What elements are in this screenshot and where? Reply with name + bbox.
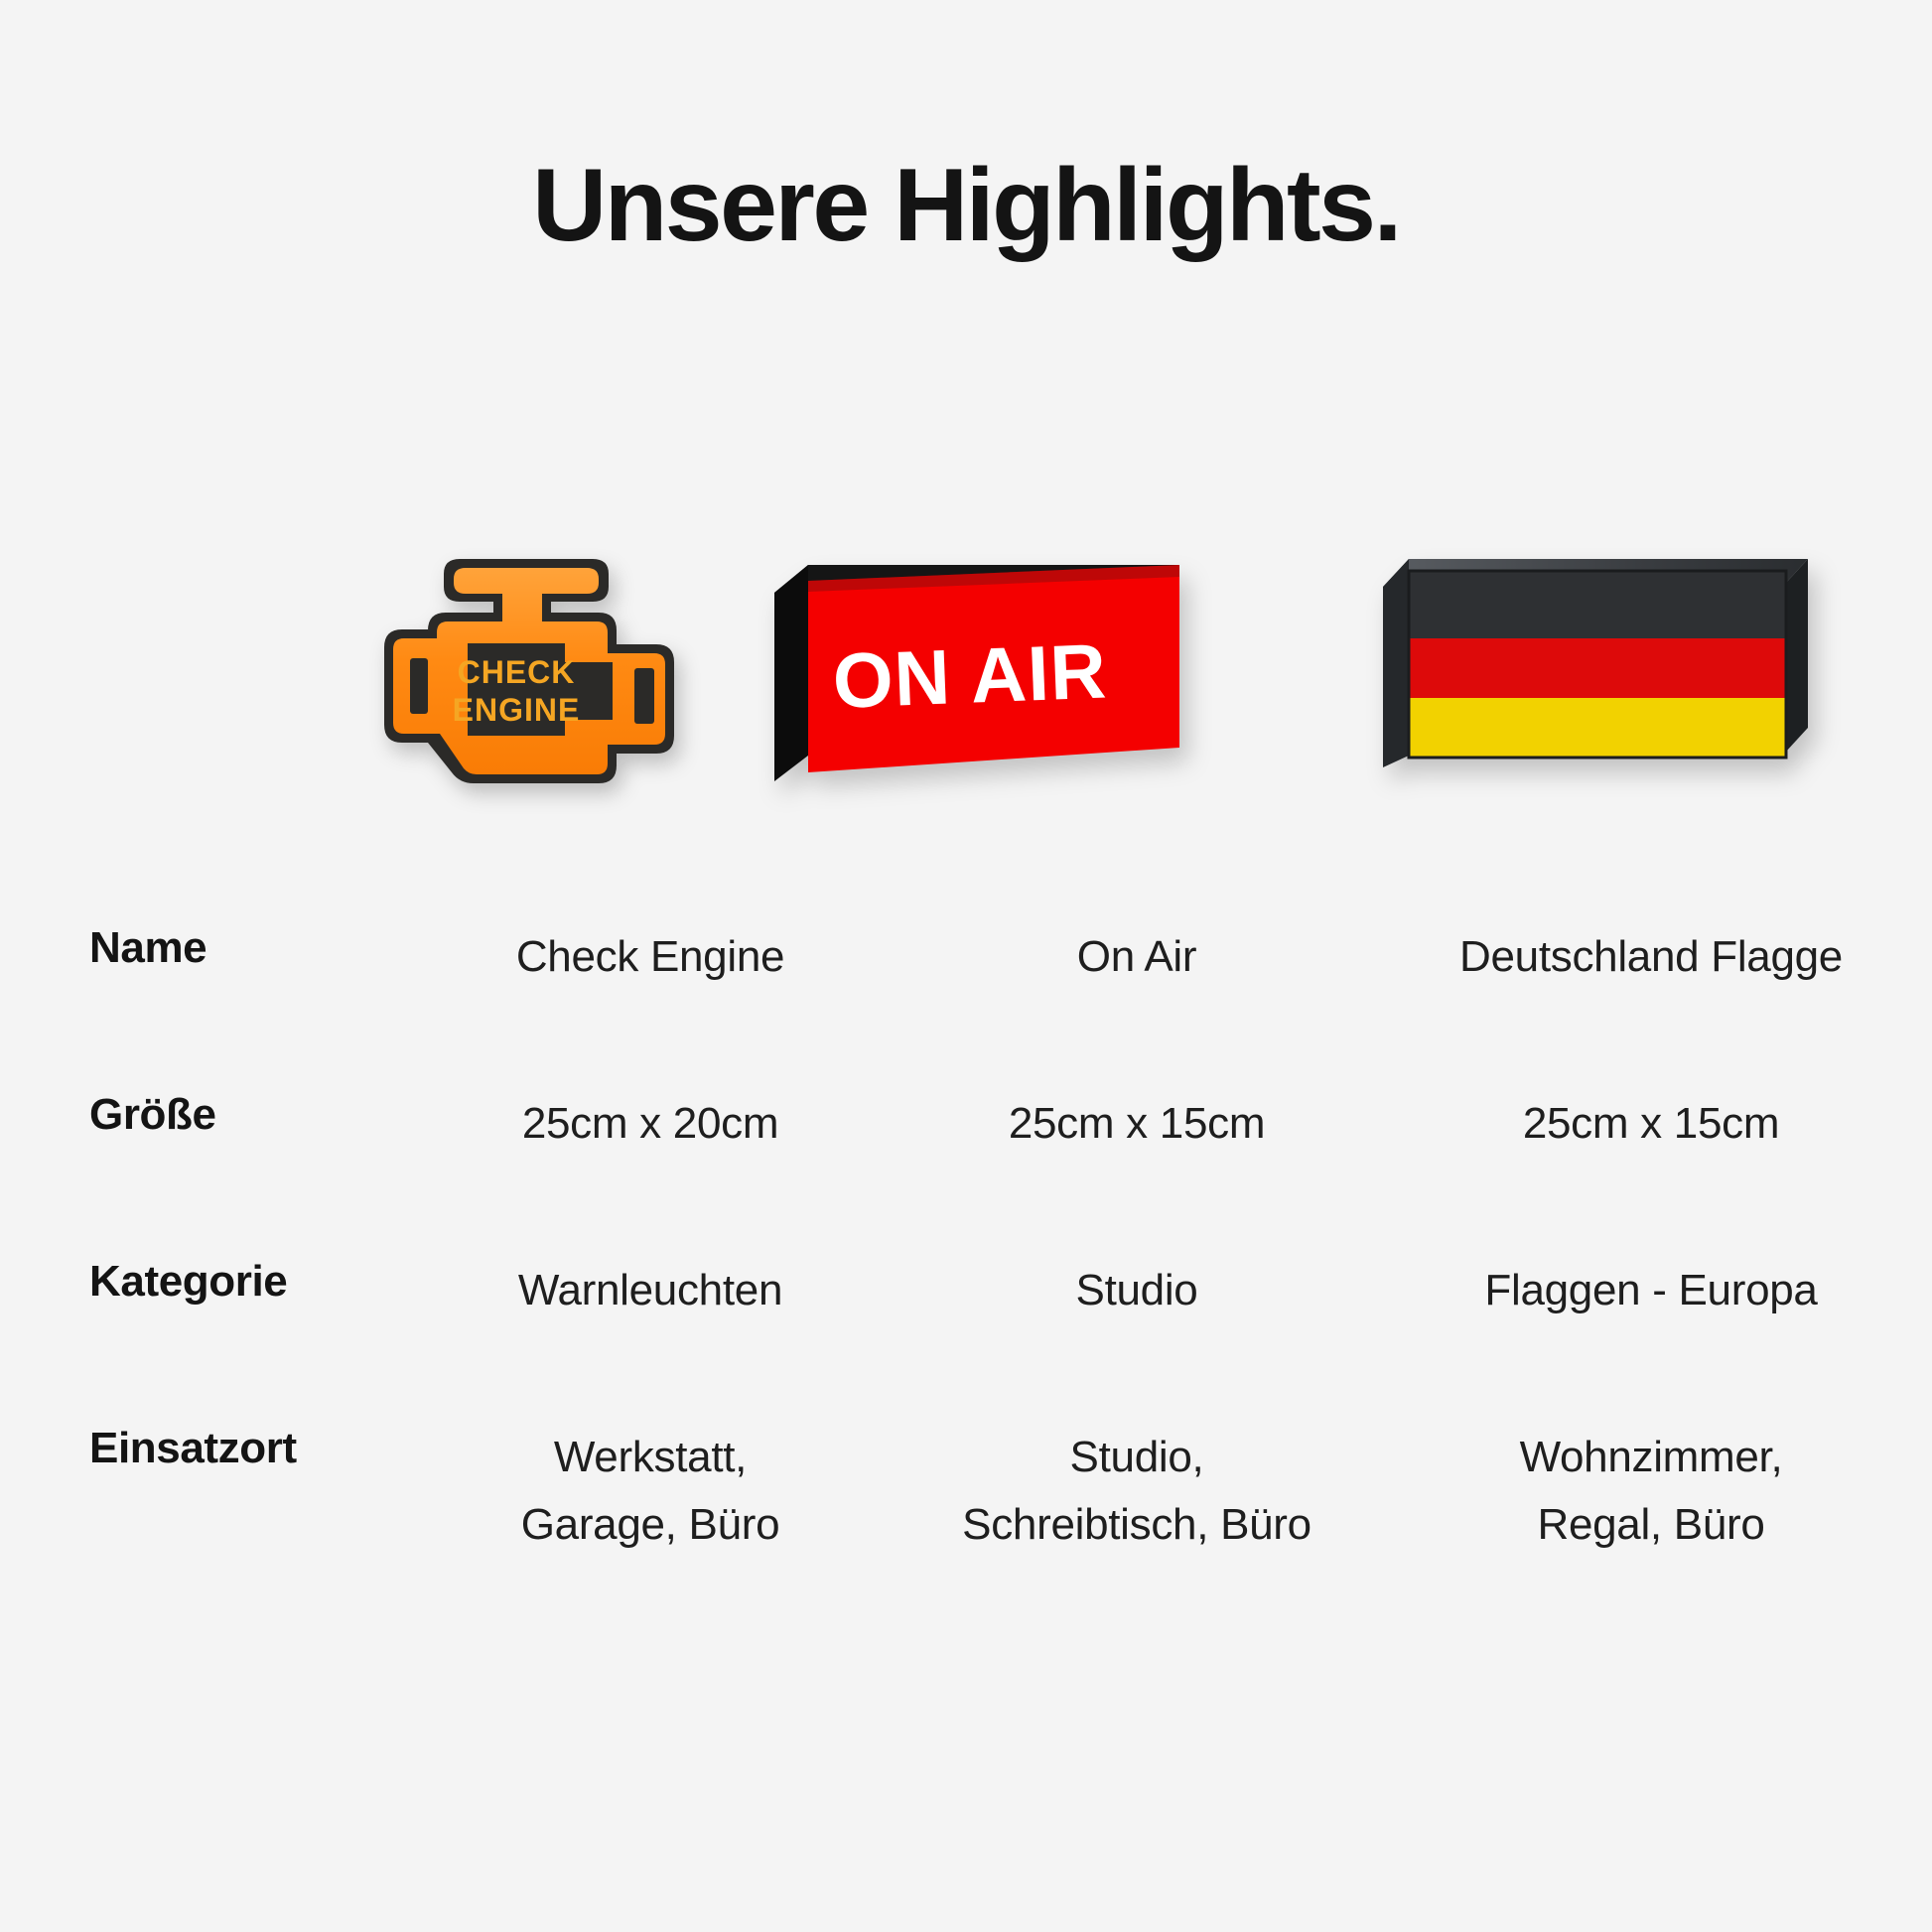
cell-kategorie-deutschland-flagge: Flaggen - Europa bbox=[1370, 1257, 1932, 1324]
table-row: Einsatzort Werkstatt,Garage, Büro Studio… bbox=[0, 1424, 1932, 1622]
page-title: Unsere Highlights. bbox=[0, 149, 1932, 262]
cell-groesse-on-air: 25cm x 15cm bbox=[903, 1090, 1370, 1158]
product-image-on-air[interactable]: ON AIR bbox=[745, 551, 1271, 839]
on-air-text: ON AIR bbox=[831, 626, 1108, 725]
cell-name-check-engine: Check Engine bbox=[397, 923, 903, 991]
cell-einsatzort-on-air: Studio,Schreibtisch, Büro bbox=[903, 1424, 1370, 1559]
svg-text:ENGINE: ENGINE bbox=[453, 692, 581, 728]
cell-einsatzort-deutschland-flagge: Wohnzimmer,Regal, Büro bbox=[1370, 1424, 1932, 1559]
cell-kategorie-on-air: Studio bbox=[903, 1257, 1370, 1324]
cell-kategorie-check-engine: Warnleuchten bbox=[397, 1257, 903, 1324]
cell-name-on-air: On Air bbox=[903, 923, 1370, 991]
row-label-kategorie: Kategorie bbox=[0, 1257, 397, 1307]
table-row: Kategorie Warnleuchten Studio Flaggen - … bbox=[0, 1257, 1932, 1424]
cell-name-deutschland-flagge: Deutschland Flagge bbox=[1370, 923, 1932, 991]
on-air-lightbox-icon: ON AIR bbox=[764, 561, 1181, 789]
product-image-check-engine[interactable]: CHECK ENGINE bbox=[318, 551, 745, 839]
spec-table: Name Check Engine On Air Deutschland Fla… bbox=[0, 923, 1932, 1622]
table-row: Name Check Engine On Air Deutschland Fla… bbox=[0, 923, 1932, 1090]
row-label-groesse: Größe bbox=[0, 1090, 397, 1140]
row-label-name: Name bbox=[0, 923, 397, 973]
svg-text:CHECK: CHECK bbox=[458, 654, 576, 690]
cell-groesse-check-engine: 25cm x 20cm bbox=[397, 1090, 903, 1158]
cell-einsatzort-check-engine: Werkstatt,Garage, Büro bbox=[397, 1424, 903, 1559]
german-flag-lightbox-icon bbox=[1375, 553, 1812, 791]
check-engine-icon: CHECK ENGINE bbox=[343, 541, 720, 799]
cell-groesse-deutschland-flagge: 25cm x 15cm bbox=[1370, 1090, 1932, 1158]
product-image-row: CHECK ENGINE ON AIR bbox=[318, 551, 1906, 839]
highlights-page: Unsere Highlights. bbox=[0, 0, 1932, 1932]
product-image-deutschland-flagge[interactable] bbox=[1350, 551, 1906, 839]
table-row: Größe 25cm x 20cm 25cm x 15cm 25cm x 15c… bbox=[0, 1090, 1932, 1257]
row-label-einsatzort: Einsatzort bbox=[0, 1424, 397, 1473]
